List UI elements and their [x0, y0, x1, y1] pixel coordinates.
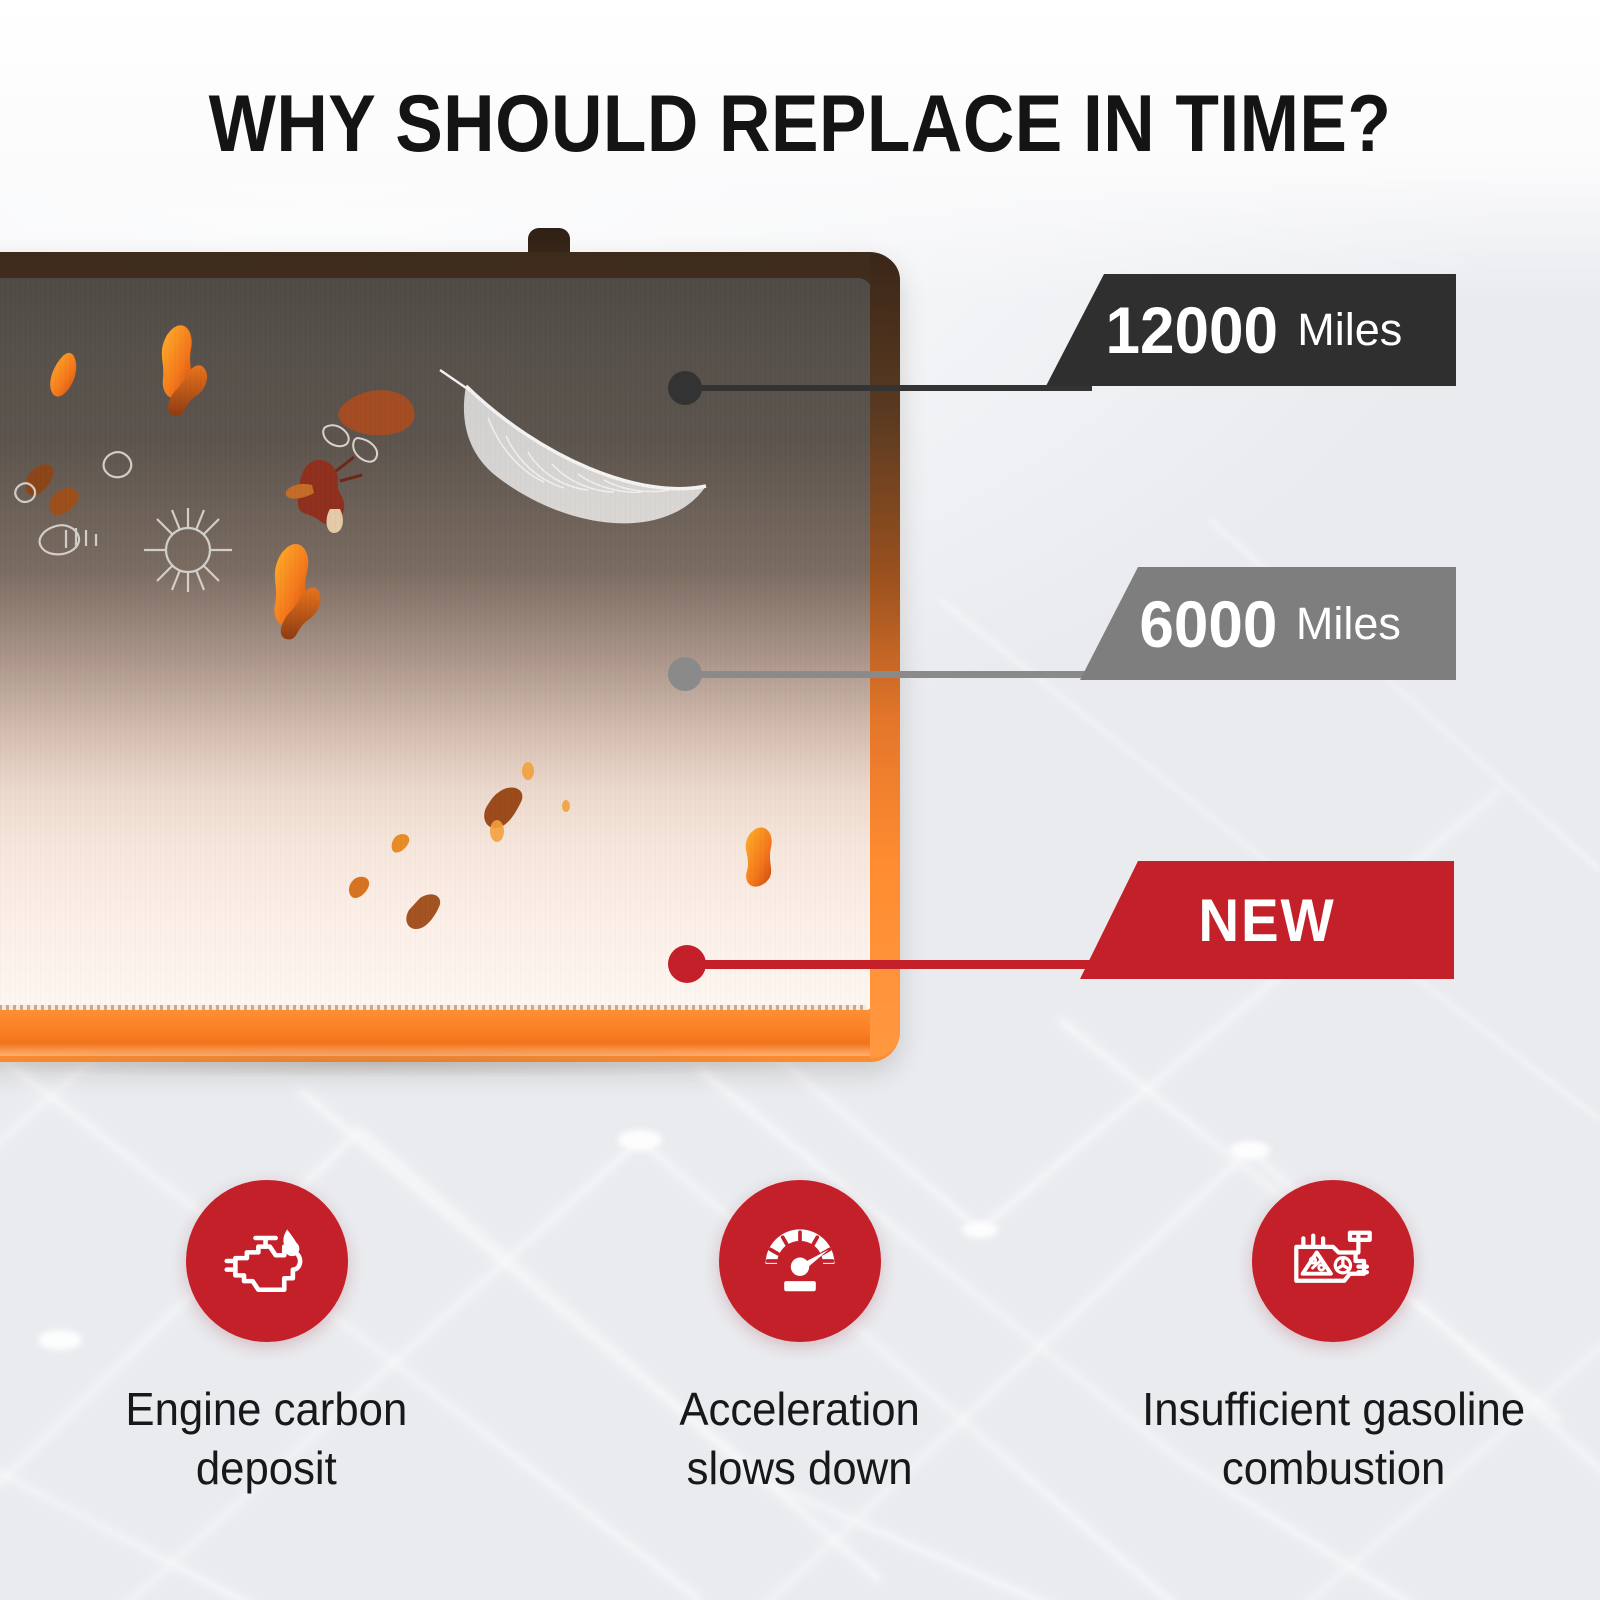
feature-caption-line1: Insufficient gasoline [1142, 1383, 1525, 1435]
connector-dot [668, 657, 702, 691]
callout-unit: Miles [1296, 598, 1401, 650]
engine-warning-percent-icon [1285, 1213, 1381, 1309]
callout-value: 12000 [1105, 292, 1278, 368]
callout-badge-12000-miles: 12000 Miles [1046, 274, 1456, 386]
feature-icon-circle [1252, 1180, 1414, 1342]
feature-engine-carbon-deposit: Engine carbon deposit [0, 1180, 533, 1498]
feature-caption-line1: Engine carbon [126, 1383, 408, 1435]
callout-badge-6000-miles: 6000 Miles [1080, 567, 1456, 680]
feature-caption: Acceleration slows down [680, 1380, 920, 1498]
connector-line [692, 385, 1092, 391]
feature-acceleration-slows-down: Acceleration slows down [533, 1180, 1066, 1498]
infographic-canvas: WHY SHOULD REPLACE IN TIME? [0, 0, 1600, 1600]
feature-caption-line2: combustion [1222, 1442, 1445, 1494]
callout-badge-new: NEW [1080, 861, 1454, 979]
feature-caption: Insufficient gasoline combustion [1142, 1380, 1525, 1498]
connector-line [694, 960, 1126, 969]
speedometer-icon [754, 1215, 846, 1307]
callout-value: NEW [1198, 886, 1335, 955]
connector-line [692, 671, 1126, 678]
feature-caption-line1: Acceleration [680, 1383, 920, 1435]
air-filter-product-image [0, 252, 900, 1062]
callout-value: 6000 [1139, 586, 1277, 662]
filter-drop-shadow [0, 1048, 840, 1078]
feature-insufficient-gasoline-combustion: Insufficient gasoline combustion [1067, 1180, 1600, 1498]
feature-caption-line2: deposit [196, 1442, 337, 1494]
engine-oil-drop-icon [221, 1215, 313, 1307]
feature-caption: Engine carbon deposit [126, 1380, 408, 1498]
connector-dot [668, 945, 706, 983]
feature-icon-circle [719, 1180, 881, 1342]
connector-dot [668, 371, 702, 405]
filter-right-edge [870, 254, 900, 1058]
feature-list: Engine carbon deposit [0, 1180, 1600, 1498]
feature-caption-line2: slows down [687, 1442, 913, 1494]
page-title: WHY SHOULD REPLACE IN TIME? [96, 84, 1504, 165]
feature-icon-circle [186, 1180, 348, 1342]
callout-unit: Miles [1297, 304, 1402, 356]
